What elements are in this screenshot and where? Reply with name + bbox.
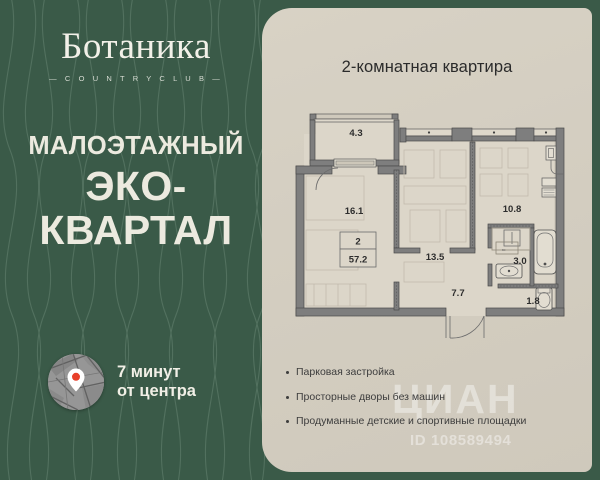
map-pin-icon — [68, 369, 85, 392]
feature-text: Продуманные детские и спортивные площадк… — [296, 415, 526, 428]
badge-area: 57.2 — [349, 255, 368, 266]
location-badge-text: 7 минут от центра — [117, 363, 196, 401]
location-badge-line-2: от центра — [117, 382, 196, 401]
bullet-dot-icon — [286, 396, 289, 399]
room-label-hall: 13.5 — [426, 252, 445, 263]
room-label-bathroom: 3.0 — [513, 256, 526, 267]
map-thumbnail-icon — [48, 354, 104, 410]
location-badge-line-1: 7 минут — [117, 363, 196, 382]
room-label-living-room: 16.1 — [345, 206, 364, 217]
page-title: 2-комнатная квартира — [262, 58, 592, 77]
location-badge: 7 минут от центра — [48, 354, 196, 410]
list-item: Парковая застройка — [286, 366, 586, 379]
badge-rooms: 2 — [355, 237, 360, 248]
room-label-wc: 1.8 — [526, 296, 539, 307]
feature-text: Парковая застройка — [296, 366, 395, 379]
floor-plan-drawing: .wall { fill:#7e7e7e; stroke:#4a4a4a; st… — [290, 112, 570, 342]
headline-line-3: КВАРТАЛ — [0, 209, 272, 251]
brand-tagline: — C O U N T R Y C L U B — — [0, 74, 272, 83]
room-label-corridor: 7.7 — [451, 288, 464, 299]
room-label-balcony: 4.3 — [349, 128, 362, 139]
list-item: Продуманные детские и спортивные площадк… — [286, 415, 586, 428]
floor-plan-card: 2-комнатная квартира .wall { fill:#7e7e7… — [262, 8, 592, 472]
brand-logo: Ботаника — C O U N T R Y C L U B — — [0, 28, 272, 83]
svg-text:ВС: ВС — [502, 248, 506, 252]
bullet-dot-icon — [286, 371, 289, 374]
room-label-kitchen: 10.8 — [503, 204, 522, 215]
headline-line-1: МАЛОЭТАЖНЫЙ — [0, 133, 272, 159]
feature-text: Просторные дворы без машин — [296, 391, 445, 404]
brand-panel: Ботаника — C O U N T R Y C L U B — МАЛОЭ… — [0, 0, 272, 480]
brand-name: Ботаника — [0, 28, 272, 65]
listing-image: Ботаника — C O U N T R Y C L U B — МАЛОЭ… — [0, 0, 600, 480]
feature-list: Парковая застройка Просторные дворы без … — [286, 366, 586, 440]
headline-line-2: ЭКО- — [0, 165, 272, 207]
area-badge: 2 57.2 — [340, 232, 376, 267]
list-item: Просторные дворы без машин — [286, 391, 586, 404]
bullet-dot-icon — [286, 420, 289, 423]
headline: МАЛОЭТАЖНЫЙ ЭКО- КВАРТАЛ — [0, 133, 272, 252]
